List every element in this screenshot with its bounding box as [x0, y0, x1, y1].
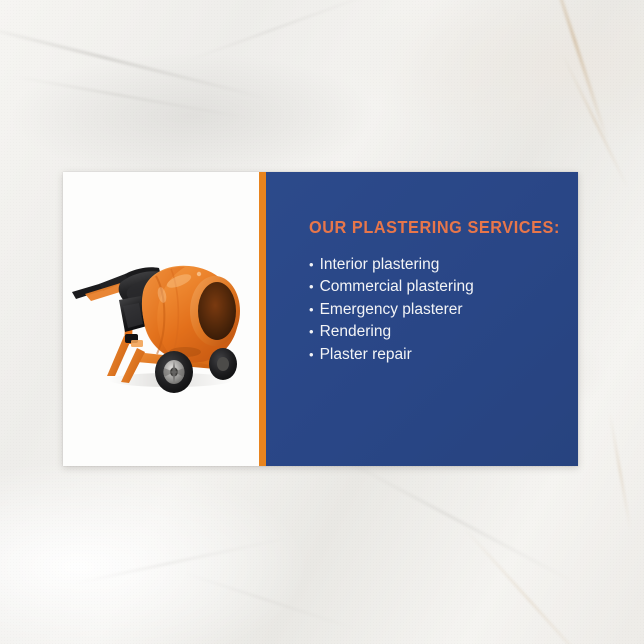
- marble-background: OUR PLASTERING SERVICES: • Interior plas…: [0, 0, 644, 644]
- marble-vein: [0, 24, 266, 99]
- marble-vein: [609, 412, 632, 531]
- list-item: • Plaster repair: [309, 344, 564, 367]
- list-item: • Rendering: [309, 321, 564, 344]
- list-item: • Emergency plasterer: [309, 299, 564, 322]
- list-item-label: Rendering: [320, 321, 392, 344]
- bullet-icon: •: [309, 276, 314, 299]
- marble-vein: [561, 53, 629, 189]
- marble-vein: [12, 75, 249, 119]
- bullet-icon: •: [309, 254, 314, 277]
- bullet-icon: •: [309, 321, 314, 344]
- list-item-label: Emergency plasterer: [320, 299, 463, 322]
- marble-vein: [72, 537, 288, 585]
- marble-vein: [345, 459, 576, 584]
- list-item-label: Interior plastering: [320, 254, 440, 277]
- marble-vein: [462, 526, 597, 644]
- list-item-label: Commercial plastering: [320, 276, 474, 299]
- marble-vein: [541, 0, 609, 142]
- cement-mixer-image: [63, 248, 259, 398]
- card-content: OUR PLASTERING SERVICES: • Interior plas…: [309, 219, 564, 366]
- card-photo-panel: [63, 172, 259, 466]
- list-item: • Commercial plastering: [309, 276, 564, 299]
- bullet-icon: •: [309, 299, 314, 322]
- business-card: OUR PLASTERING SERVICES: • Interior plas…: [63, 172, 578, 466]
- services-list: • Interior plastering • Commercial plast…: [309, 254, 564, 367]
- list-item-label: Plaster repair: [320, 344, 412, 367]
- services-heading: OUR PLASTERING SERVICES:: [309, 219, 546, 237]
- bullet-icon: •: [309, 344, 314, 367]
- cement-mixer-icon: [63, 248, 259, 398]
- list-item: • Interior plastering: [309, 254, 564, 277]
- marble-vein: [184, 572, 356, 630]
- marble-vein: [186, 0, 375, 62]
- card-blue-panel: OUR PLASTERING SERVICES: • Interior plas…: [266, 172, 578, 466]
- orange-divider-stripe: [259, 172, 266, 466]
